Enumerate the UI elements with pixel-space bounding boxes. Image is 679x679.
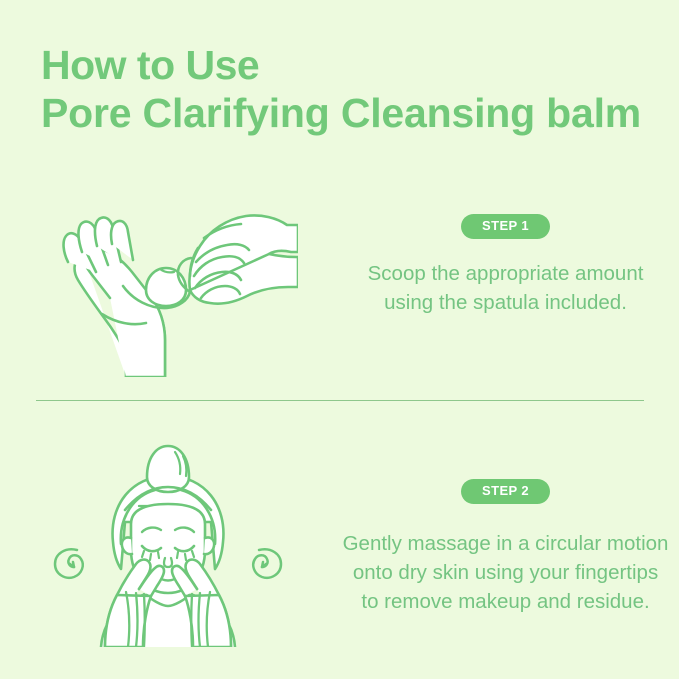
step-2-description-line-2: onto dry skin using your fingertips	[336, 558, 676, 587]
step-2-description: Gently massage in a circular motion onto…	[336, 529, 676, 616]
step-1-badge: STEP 1	[461, 214, 550, 239]
step-2-section: STEP 2 Gently massage in a circular moti…	[0, 432, 679, 652]
section-divider	[36, 400, 644, 401]
swirl-left-icon	[55, 549, 83, 577]
step-2-text-column: STEP 2 Gently massage in a circular moti…	[332, 432, 679, 616]
face-massage-icon	[43, 432, 293, 647]
step-2-description-line-1: Gently massage in a circular motion	[336, 529, 676, 558]
step-1-illustration-column	[0, 192, 332, 377]
page-title: How to Use Pore Clarifying Cleansing bal…	[41, 41, 651, 137]
page-title-line-2: Pore Clarifying Cleansing balm	[41, 89, 651, 137]
hands-scooping-balm-icon	[38, 192, 298, 377]
step-1-description-line-2: using the spatula included.	[336, 288, 676, 317]
step-1-description-line-1: Scoop the appropriate amount	[336, 259, 676, 288]
step-2-description-line-3: to remove makeup and residue.	[336, 587, 676, 616]
step-1-description: Scoop the appropriate amount using the s…	[336, 259, 676, 317]
swirl-right-icon	[253, 549, 281, 577]
step-1-section: STEP 1 Scoop the appropriate amount usin…	[0, 192, 679, 392]
step-2-badge: STEP 2	[461, 479, 550, 504]
step-2-illustration-column	[0, 432, 332, 647]
step-1-text-column: STEP 1 Scoop the appropriate amount usin…	[332, 192, 679, 317]
page-title-line-1: How to Use	[41, 41, 651, 89]
instructional-page: How to Use Pore Clarifying Cleansing bal…	[0, 0, 679, 679]
